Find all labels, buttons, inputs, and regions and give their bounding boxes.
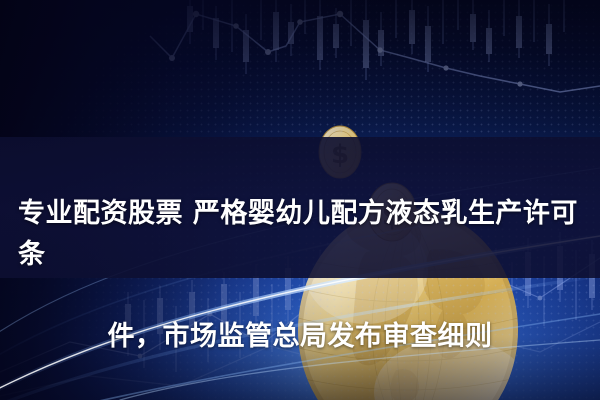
news-banner-image: $ $ 专业配资股票 严格婴幼儿配方液态乳生产许可条 件，市场监管总局发布审查细… — [0, 0, 600, 400]
headline-line-2: 件，市场监管总局发布审查细则 — [18, 316, 582, 357]
page-title: 专业配资股票 严格婴幼儿配方液态乳生产许可条 件，市场监管总局发布审查细则 — [0, 152, 600, 398]
headline-line-1: 专业配资股票 严格婴幼儿配方液态乳生产许可条 — [18, 193, 582, 275]
